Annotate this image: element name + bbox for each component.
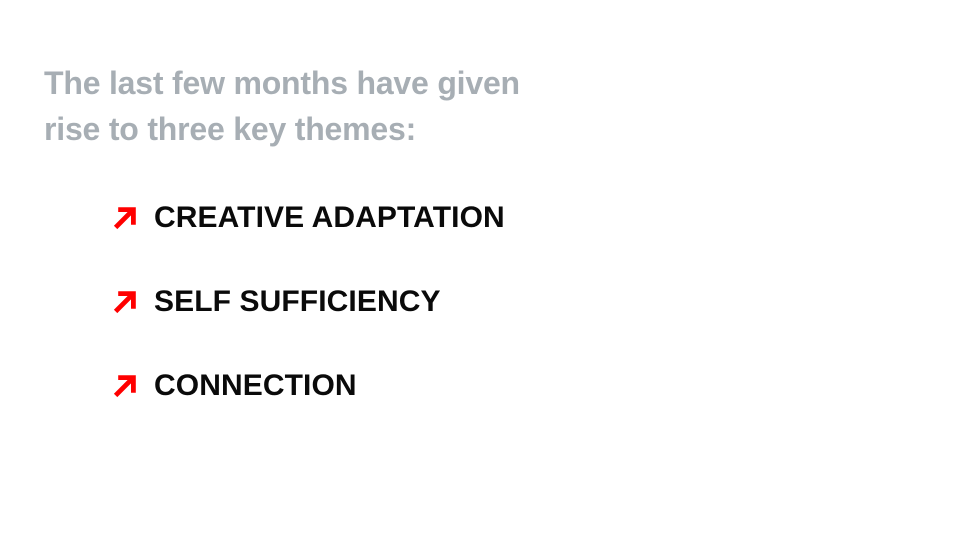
list-item[interactable]: CREATIVE ADAPTATION [110, 196, 910, 240]
slide-canvas: The last few months have given rise to t… [0, 0, 960, 540]
list-item-label: CONNECTION [154, 369, 357, 403]
page-title: The last few months have given rise to t… [44, 60, 644, 152]
arrow-up-right-icon [110, 287, 140, 317]
list-item-label: CREATIVE ADAPTATION [154, 201, 505, 235]
list-item[interactable]: CONNECTION [110, 364, 910, 408]
list-item-label: SELF SUFFICIENCY [154, 285, 441, 319]
arrow-up-right-icon [110, 371, 140, 401]
arrow-up-right-icon [110, 203, 140, 233]
list-item[interactable]: SELF SUFFICIENCY [110, 280, 910, 324]
themes-list: CREATIVE ADAPTATION SELF SUFFICIENCY CON… [110, 196, 910, 408]
